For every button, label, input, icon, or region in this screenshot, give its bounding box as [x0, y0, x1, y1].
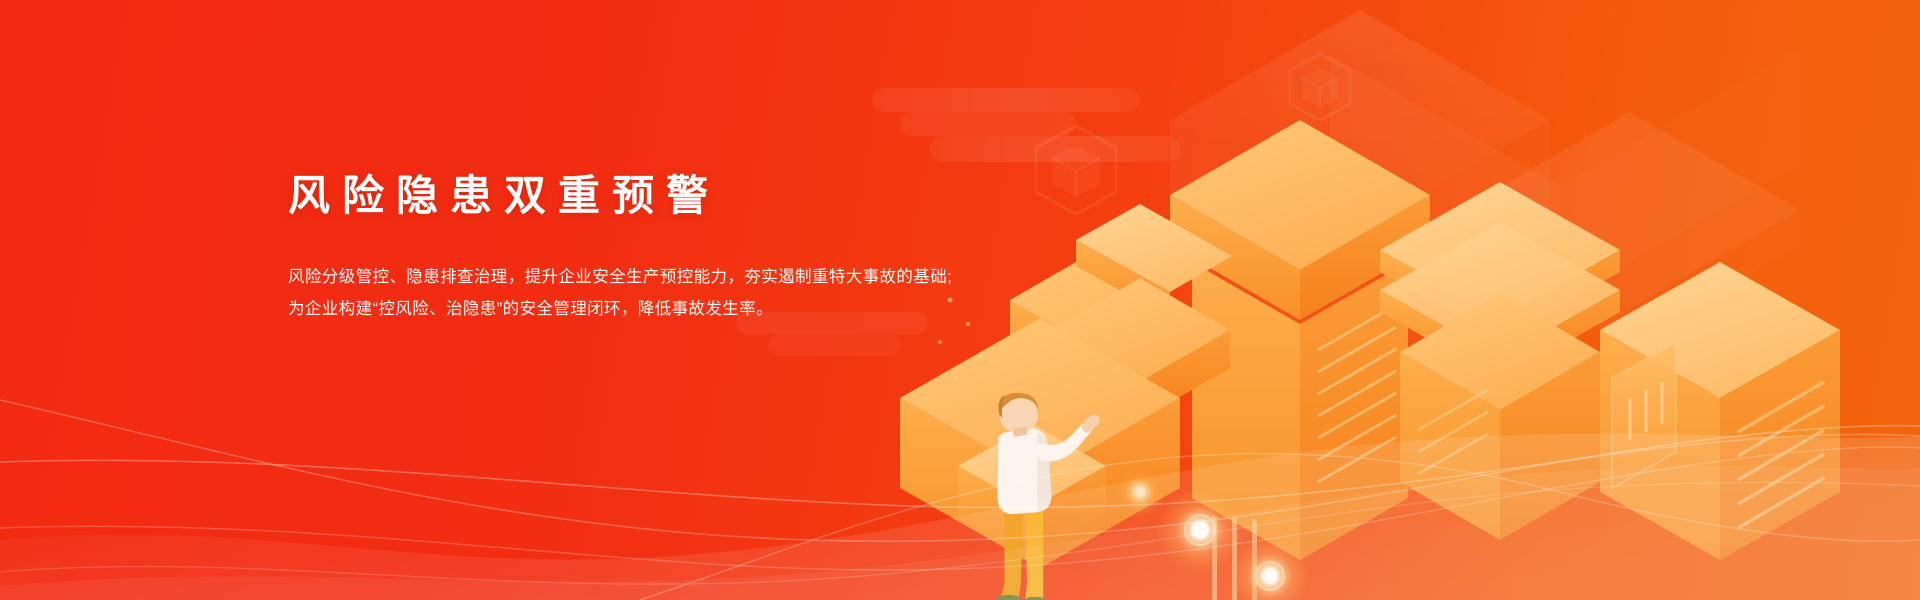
- banner-copy: 风险隐患双重预警 风险分级管控、隐患排查治理，提升企业安全生产预控能力，夯实遏制…: [288, 175, 1008, 325]
- subtitle-line-1: 风险分级管控、隐患排查治理，提升企业安全生产预控能力，夯实遏制重特大事故的基础;: [288, 261, 1008, 293]
- subtitle-line-2: 为企业构建“控风险、治隐患”的安全管理闭环，降低事故发生率。: [288, 293, 1008, 325]
- background-waves: [0, 340, 1920, 600]
- page-title: 风险隐患双重预警: [288, 175, 1008, 217]
- promo-banner: 风险隐患双重预警 风险分级管控、隐患排查治理，提升企业安全生产预控能力，夯实遏制…: [0, 0, 1920, 600]
